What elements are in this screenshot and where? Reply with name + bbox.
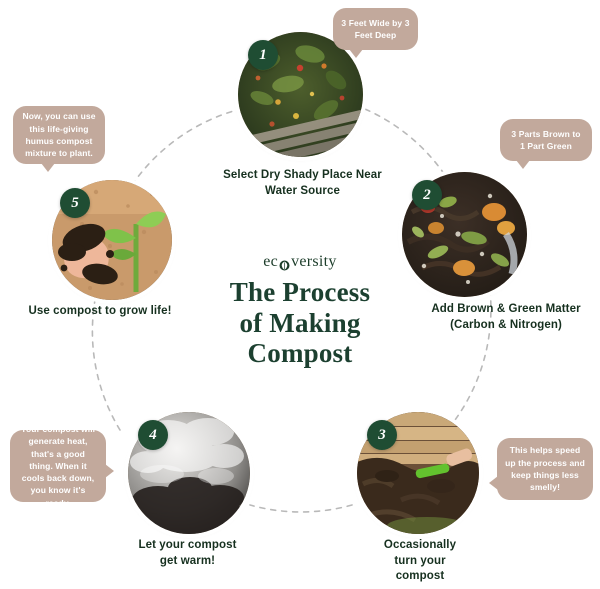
step-5-caption-line-1: Use compost to grow life! <box>5 304 195 320</box>
step-3-caption-line-2: turn your <box>355 554 485 570</box>
step-1-caption-line-2: Water Source <box>195 184 410 200</box>
step-2-tip-bubble: 3 Parts Brown to 1 Part Green <box>500 119 592 161</box>
step-3-caption-line-1: Occasionally <box>355 538 485 554</box>
center-title-block: ec versity The Process of Making Compost <box>170 252 430 369</box>
infographic-canvas: 1 Select Dry Shady Place Near Water Sour… <box>0 0 600 589</box>
step-2-caption: Add Brown & Green Matter (Carbon & Nitro… <box>412 302 600 333</box>
step-2-caption-line-1: Add Brown & Green Matter <box>412 302 600 318</box>
step-1-badge: 1 <box>248 40 278 70</box>
step-3-caption: Occasionally turn your compost <box>355 538 485 585</box>
step-4-badge: 4 <box>138 420 168 450</box>
step-2-badge: 2 <box>412 180 442 210</box>
step-5-badge: 5 <box>60 188 90 218</box>
step-5-tip-bubble: Now, you can use this life-giving humus … <box>13 106 105 164</box>
step-4-caption-line-1: Let your compost <box>105 538 270 554</box>
brand-logo: ec versity <box>170 252 430 272</box>
leaf-globe-icon <box>279 258 290 269</box>
step-4-caption-line-2: get warm! <box>105 554 270 570</box>
brand-name-tail: versity <box>291 253 337 271</box>
step-1-tip-bubble: 3 Feet Wide by 3 Feet Deep <box>333 8 418 50</box>
step-1-caption-line-1: Select Dry Shady Place Near <box>195 168 410 184</box>
step-4-tip-bubble: Your compost will generate heat, that's … <box>10 430 106 502</box>
step-3-badge: 3 <box>367 420 397 450</box>
page-title: The Process of Making Compost <box>170 277 430 369</box>
step-5-caption: Use compost to grow life! <box>5 304 195 320</box>
step-1-caption: Select Dry Shady Place Near Water Source <box>195 168 410 199</box>
brand-name-lead: ec <box>263 253 278 271</box>
page-title-line-1: The Process <box>170 277 430 308</box>
step-4-caption: Let your compost get warm! <box>105 538 270 569</box>
step-3-tip-bubble: This helps speed up the process and keep… <box>497 438 593 500</box>
step-2-caption-line-2: (Carbon & Nitrogen) <box>412 318 600 334</box>
step-3-caption-line-3: compost <box>355 569 485 585</box>
page-title-line-3: Compost <box>170 338 430 369</box>
page-title-line-2: of Making <box>170 308 430 339</box>
